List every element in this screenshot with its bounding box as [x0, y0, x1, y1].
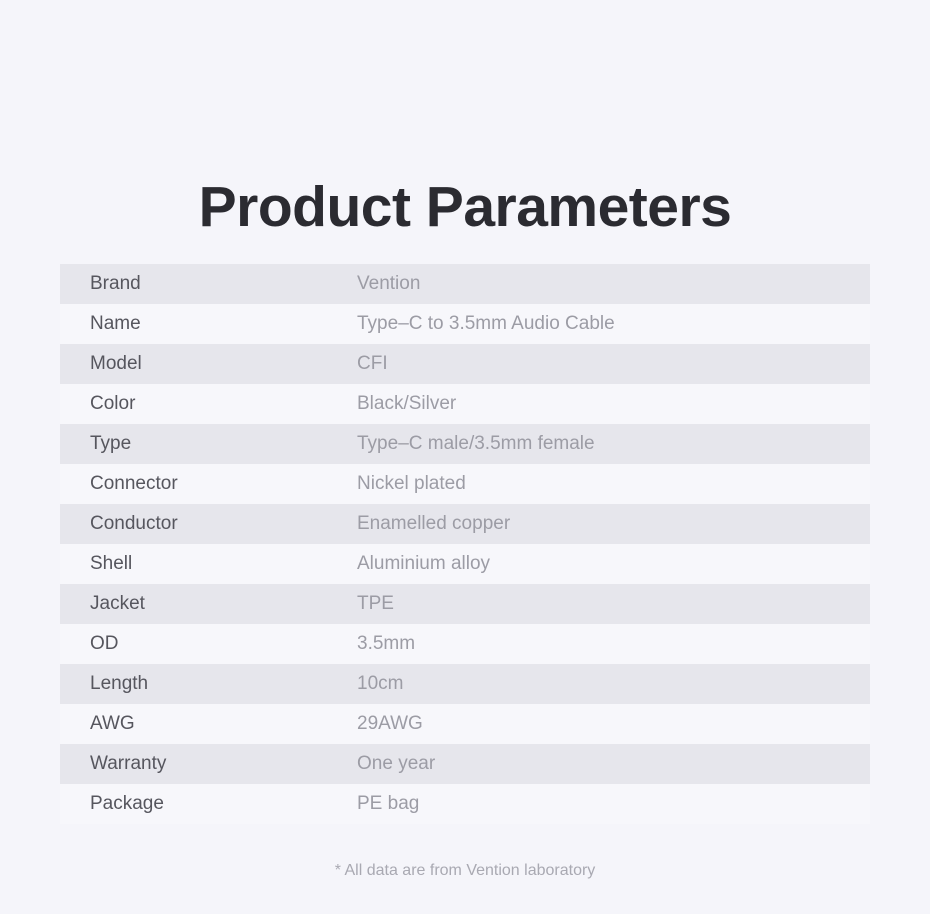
spec-value: CFI — [357, 352, 870, 376]
spec-value: Nickel plated — [357, 472, 870, 496]
spec-value: One year — [357, 752, 870, 776]
footnote-text: * All data are from Vention laboratory — [335, 860, 596, 882]
spec-label: Name — [90, 312, 357, 336]
table-row: WarrantyOne year — [60, 744, 870, 784]
table-row: OD3.5mm — [60, 624, 870, 664]
spec-label: Connector — [90, 472, 357, 496]
table-row: AWG29AWG — [60, 704, 870, 744]
spec-value: Aluminium alloy — [357, 552, 870, 576]
spec-label: Jacket — [90, 592, 357, 616]
table-row: JacketTPE — [60, 584, 870, 624]
table-row: ShellAluminium alloy — [60, 544, 870, 584]
spec-value: 10cm — [357, 672, 870, 696]
spec-label: Color — [90, 392, 357, 416]
page-title: Product Parameters — [199, 171, 732, 243]
spec-value: Type–C male/3.5mm female — [357, 432, 870, 456]
spec-value: Vention — [357, 272, 870, 296]
spec-label: Type — [90, 432, 357, 456]
table-row: Length10cm — [60, 664, 870, 704]
table-row: BrandVention — [60, 264, 870, 304]
table-row: NameType–C to 3.5mm Audio Cable — [60, 304, 870, 344]
spec-label: Package — [90, 792, 357, 816]
spec-value: PE bag — [357, 792, 870, 816]
spec-label: Length — [90, 672, 357, 696]
page-title-container: Product Parameters — [0, 133, 930, 281]
spec-label: Brand — [90, 272, 357, 296]
spec-label: AWG — [90, 712, 357, 736]
spec-label: Conductor — [90, 512, 357, 536]
table-row: PackagePE bag — [60, 784, 870, 824]
spec-table: BrandVentionNameType–C to 3.5mm Audio Ca… — [60, 264, 870, 824]
table-row: TypeType–C male/3.5mm female — [60, 424, 870, 464]
table-row: ModelCFI — [60, 344, 870, 384]
spec-value: Type–C to 3.5mm Audio Cable — [357, 312, 870, 336]
spec-value: 3.5mm — [357, 632, 870, 656]
table-row: ConductorEnamelled copper — [60, 504, 870, 544]
table-row: ConnectorNickel plated — [60, 464, 870, 504]
spec-value: Enamelled copper — [357, 512, 870, 536]
spec-value: Black/Silver — [357, 392, 870, 416]
spec-label: Model — [90, 352, 357, 376]
spec-value: TPE — [357, 592, 870, 616]
spec-value: 29AWG — [357, 712, 870, 736]
spec-label: Warranty — [90, 752, 357, 776]
table-row: ColorBlack/Silver — [60, 384, 870, 424]
footnote-container: * All data are from Vention laboratory — [0, 860, 930, 882]
spec-label: OD — [90, 632, 357, 656]
product-parameters-page: Product Parameters BrandVentionNameType–… — [0, 0, 930, 914]
spec-label: Shell — [90, 552, 357, 576]
